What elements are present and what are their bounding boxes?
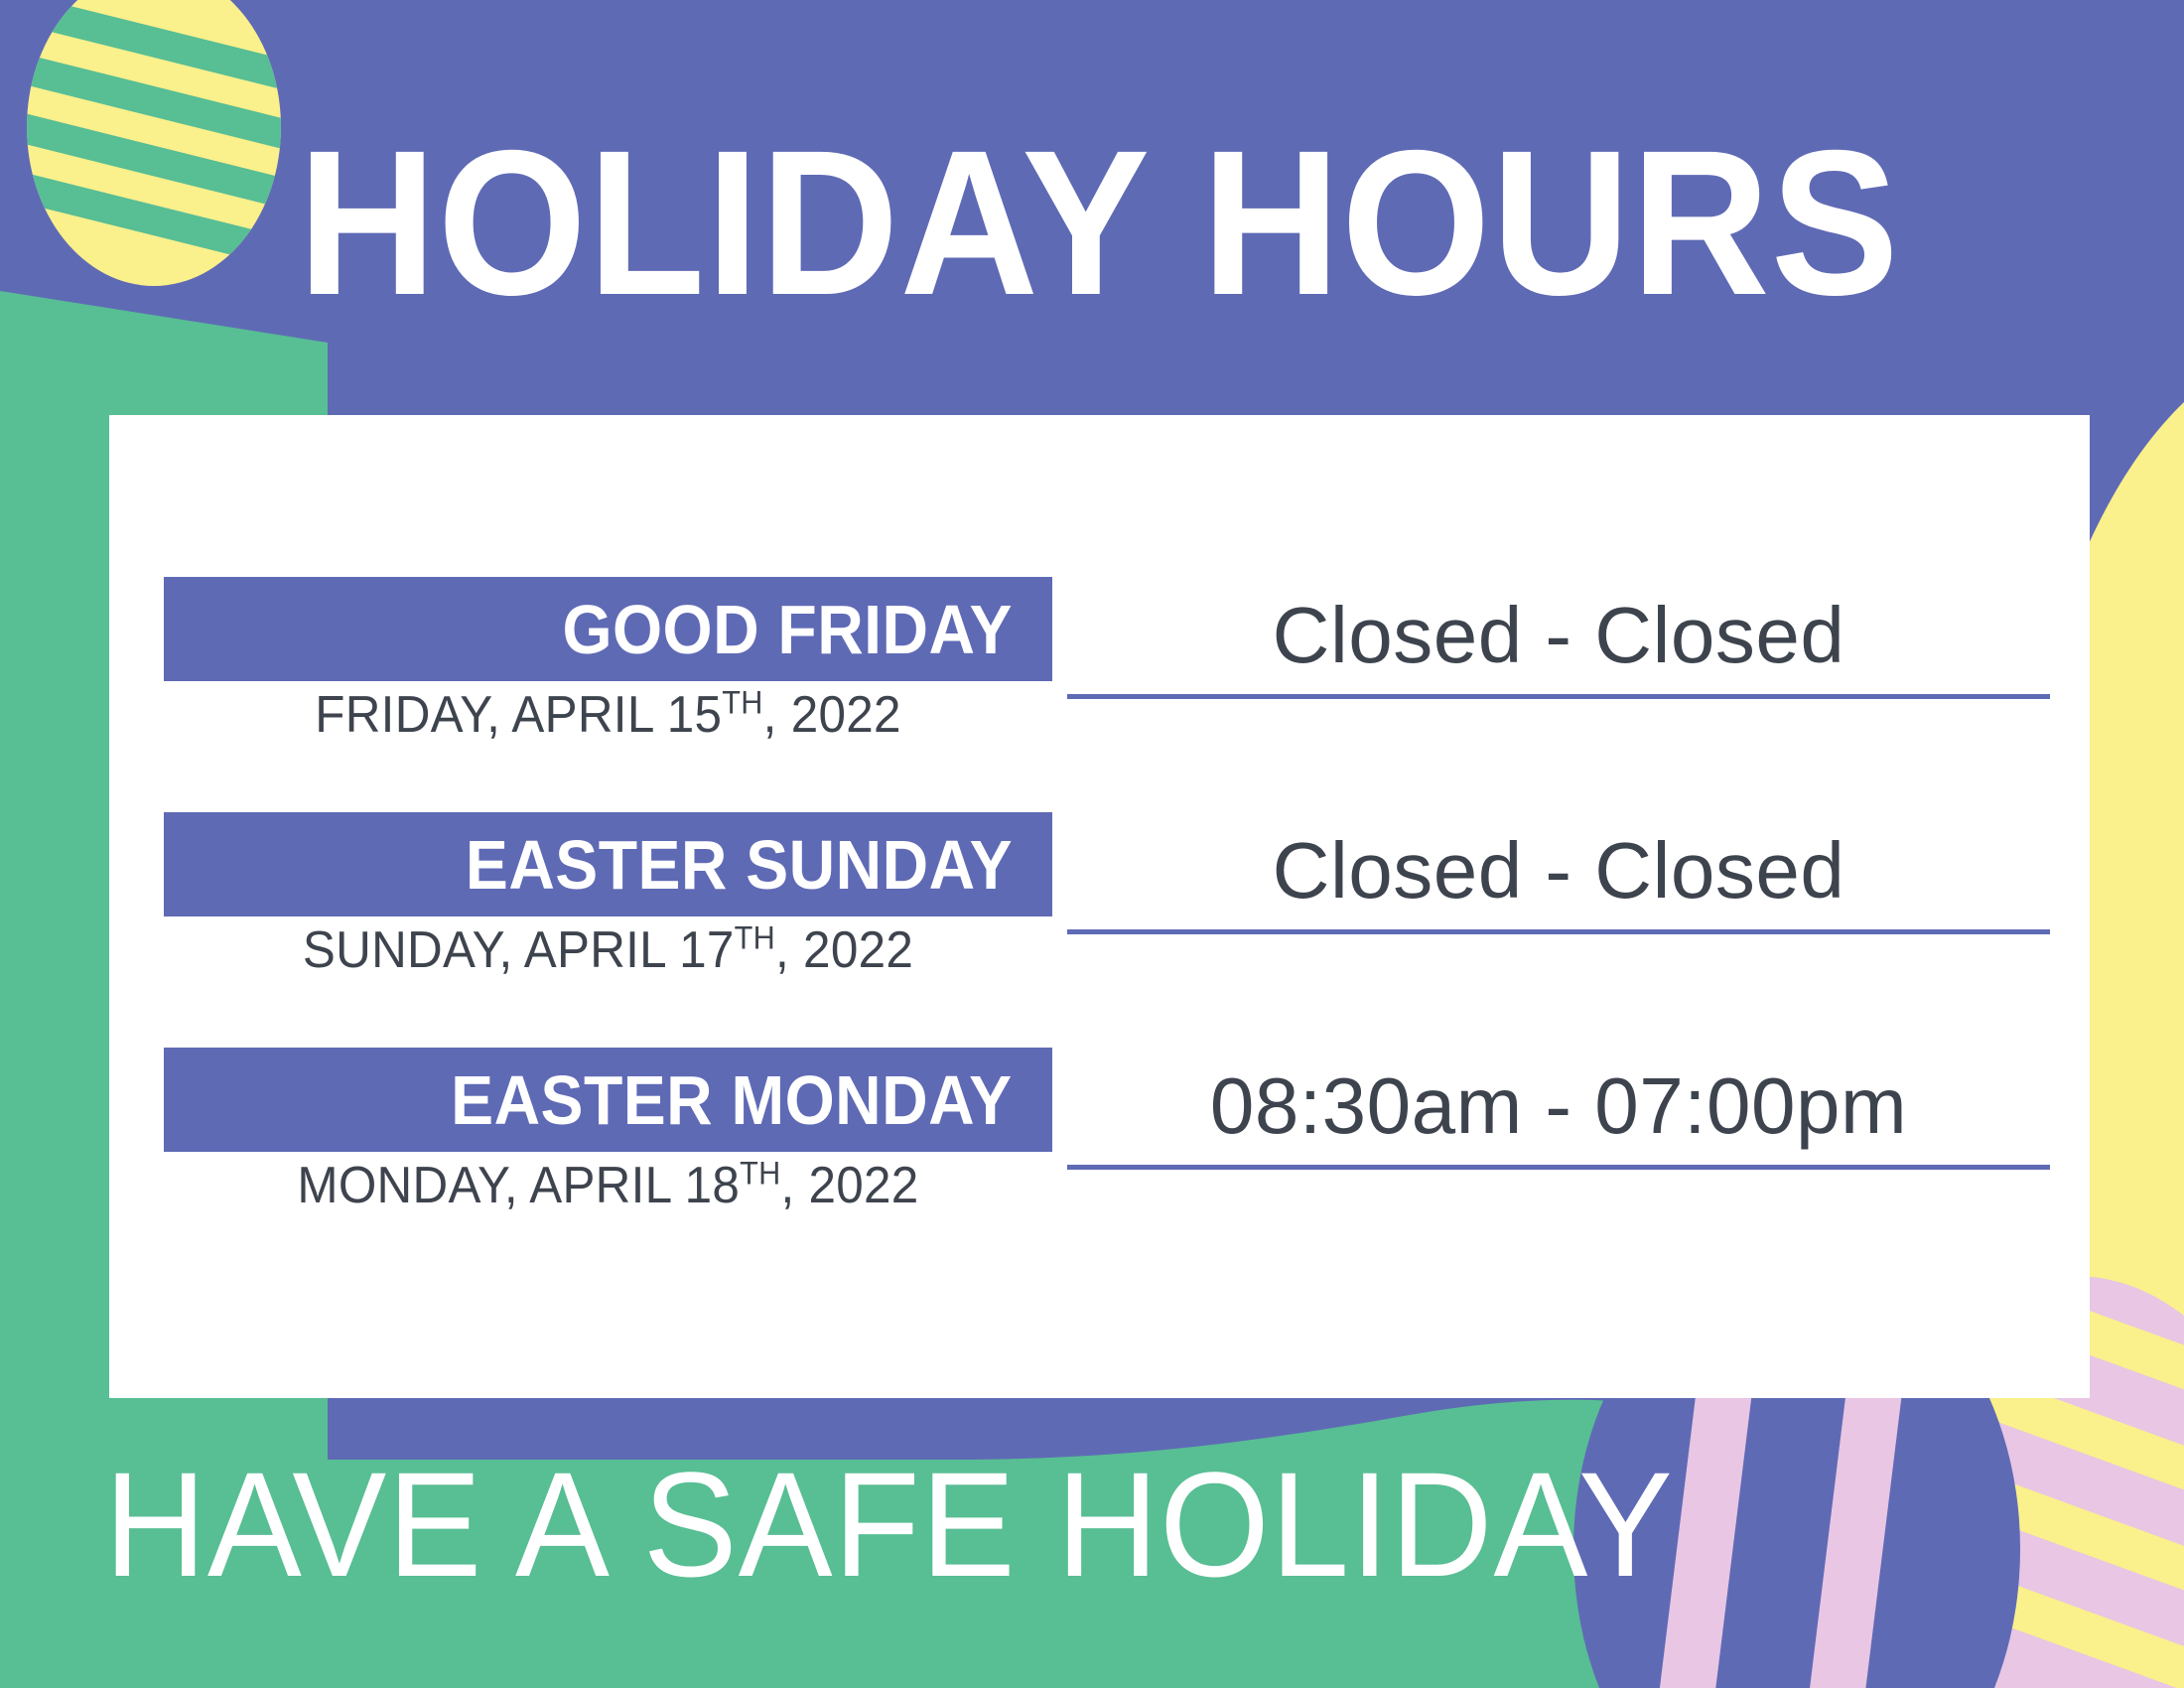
holiday-date: SUNDAY, APRIL 17TH, 2022 (186, 919, 1029, 981)
holiday-name-label: GOOD FRIDAY (562, 594, 1013, 665)
holiday-name-bar: EASTER MONDAY (164, 1048, 1052, 1152)
holiday-hours-field: Closed - Closed (1067, 812, 2050, 934)
holiday-hours-field: 08:30am - 07:00pm (1067, 1048, 2050, 1170)
holiday-date-ordinal: TH (722, 685, 762, 721)
schedule-row: GOOD FRIDAY FRIDAY, APRIL 15TH, 2022 Clo… (109, 577, 2090, 766)
schedule-row: EASTER MONDAY MONDAY, APRIL 18TH, 2022 0… (109, 1048, 2090, 1236)
holiday-name-bar: EASTER SUNDAY (164, 812, 1052, 916)
holiday-date-prefix: SUNDAY, APRIL 17 (303, 921, 735, 979)
holiday-name-label: EASTER MONDAY (452, 1064, 1013, 1136)
holiday-hours-value: Closed - Closed (1273, 828, 1845, 914)
holiday-name-label: EASTER SUNDAY (466, 829, 1013, 901)
holiday-date-prefix: MONDAY, APRIL 18 (297, 1157, 740, 1214)
holiday-hours-value: Closed - Closed (1273, 593, 1845, 678)
holiday-hours-field: Closed - Closed (1067, 577, 2050, 699)
holiday-date-year: , 2022 (775, 921, 913, 979)
holiday-date-year: , 2022 (781, 1157, 919, 1214)
holiday-hours-poster: HOLIDAY HOURS GOOD FRIDAY FRIDAY, APRIL … (0, 0, 2184, 1688)
schedule-row: EASTER SUNDAY SUNDAY, APRIL 17TH, 2022 C… (109, 812, 2090, 1001)
holiday-hours-value: 08:30am - 07:00pm (1210, 1063, 1907, 1149)
holiday-date-year: , 2022 (763, 686, 901, 744)
holiday-name-bar: GOOD FRIDAY (164, 577, 1052, 681)
holiday-date-prefix: FRIDAY, APRIL 15 (315, 686, 722, 744)
holiday-date: MONDAY, APRIL 18TH, 2022 (186, 1155, 1029, 1216)
page-title: HOLIDAY HOURS (298, 119, 1867, 328)
schedule-card: GOOD FRIDAY FRIDAY, APRIL 15TH, 2022 Clo… (109, 415, 2090, 1398)
holiday-date: FRIDAY, APRIL 15TH, 2022 (186, 684, 1029, 746)
holiday-date-ordinal: TH (735, 920, 775, 956)
holiday-date-ordinal: TH (740, 1156, 780, 1192)
footer-slogan: HAVE A SAFE HOLIDAY (104, 1445, 1674, 1604)
